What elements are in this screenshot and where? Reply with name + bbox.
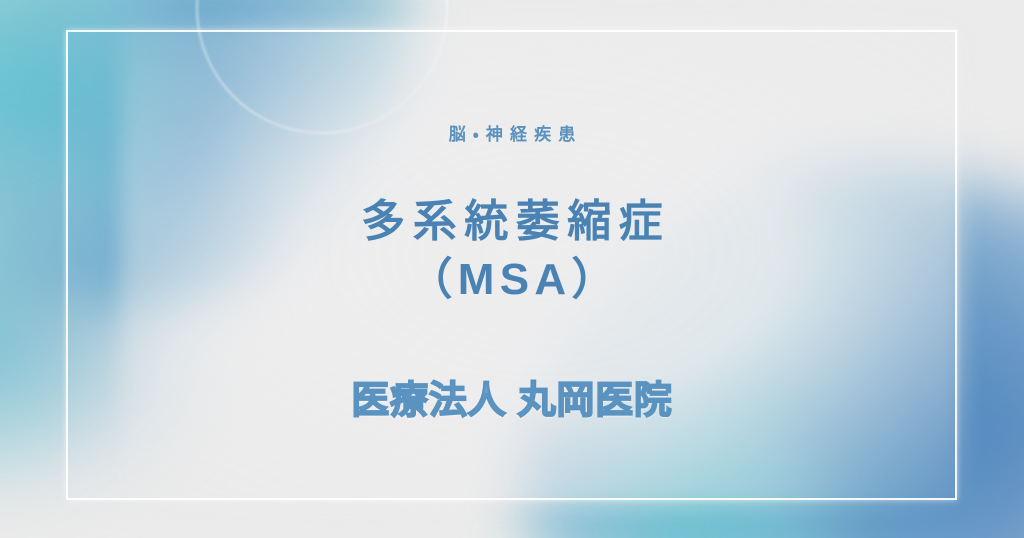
slide-content: 脳・神経疾患 多系統萎縮症 （MSA） 医療法人 丸岡医院: [0, 0, 1024, 538]
title-slide: 脳・神経疾患 多系統萎縮症 （MSA） 医療法人 丸岡医院: [0, 0, 1024, 538]
category-label: 脳・神経疾患: [442, 126, 583, 143]
page-title-line-2: （MSA）: [354, 251, 670, 309]
page-title: 多系統萎縮症 （MSA）: [354, 193, 670, 309]
organization-name: 医療法人 丸岡医院: [351, 382, 672, 420]
page-title-line-1: 多系統萎縮症: [354, 193, 670, 251]
